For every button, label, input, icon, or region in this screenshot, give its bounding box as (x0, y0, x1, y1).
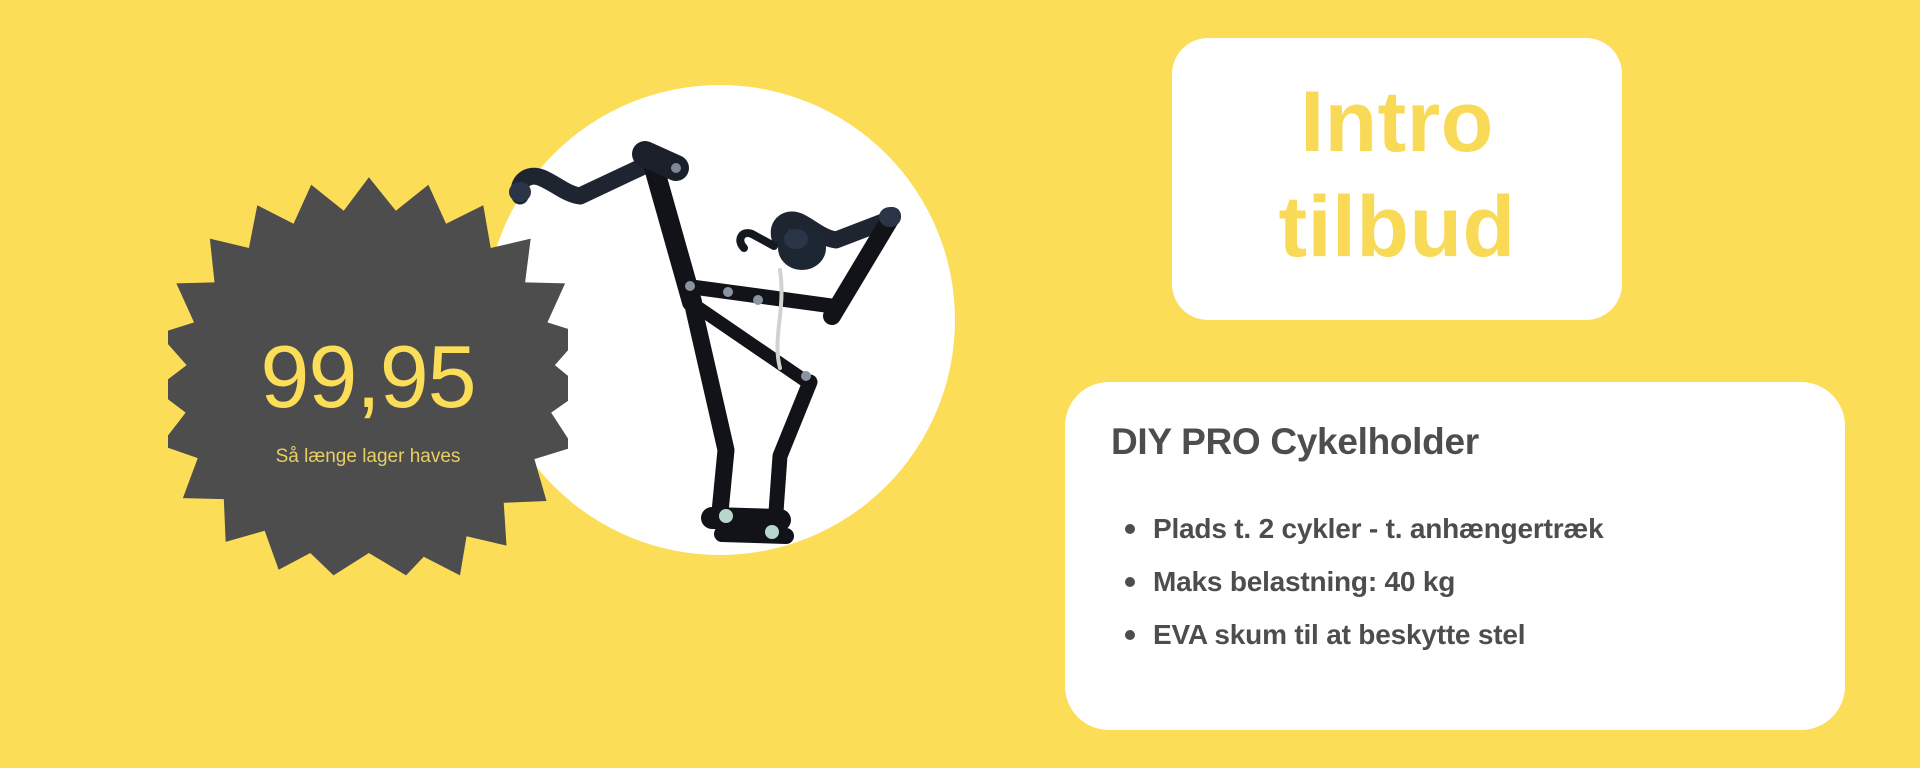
list-item: EVA skum til at beskytte stel (1153, 621, 1799, 649)
price-starburst-badge: 99,95 Så længe lager haves (168, 168, 568, 596)
promo-banner: 99,95 Så længe lager haves Intro tilbud … (0, 0, 1920, 768)
price-badge-content: 99,95 Så længe lager haves (168, 168, 568, 596)
price-subtext: Så længe lager haves (276, 447, 461, 466)
list-item: Plads t. 2 cykler - t. anhængertræk (1153, 515, 1799, 543)
intro-offer-line-2: tilbud (1278, 175, 1515, 280)
intro-offer-card: Intro tilbud (1172, 38, 1622, 320)
product-info-card: DIY PRO Cykelholder Plads t. 2 cykler - … (1065, 382, 1845, 730)
price-value: 99,95 (260, 333, 475, 421)
product-title: DIY PRO Cykelholder (1111, 422, 1799, 463)
product-feature-list: Plads t. 2 cykler - t. anhængertræk Maks… (1111, 515, 1799, 649)
list-item: Maks belastning: 40 kg (1153, 568, 1799, 596)
intro-offer-line-1: Intro (1300, 70, 1494, 175)
